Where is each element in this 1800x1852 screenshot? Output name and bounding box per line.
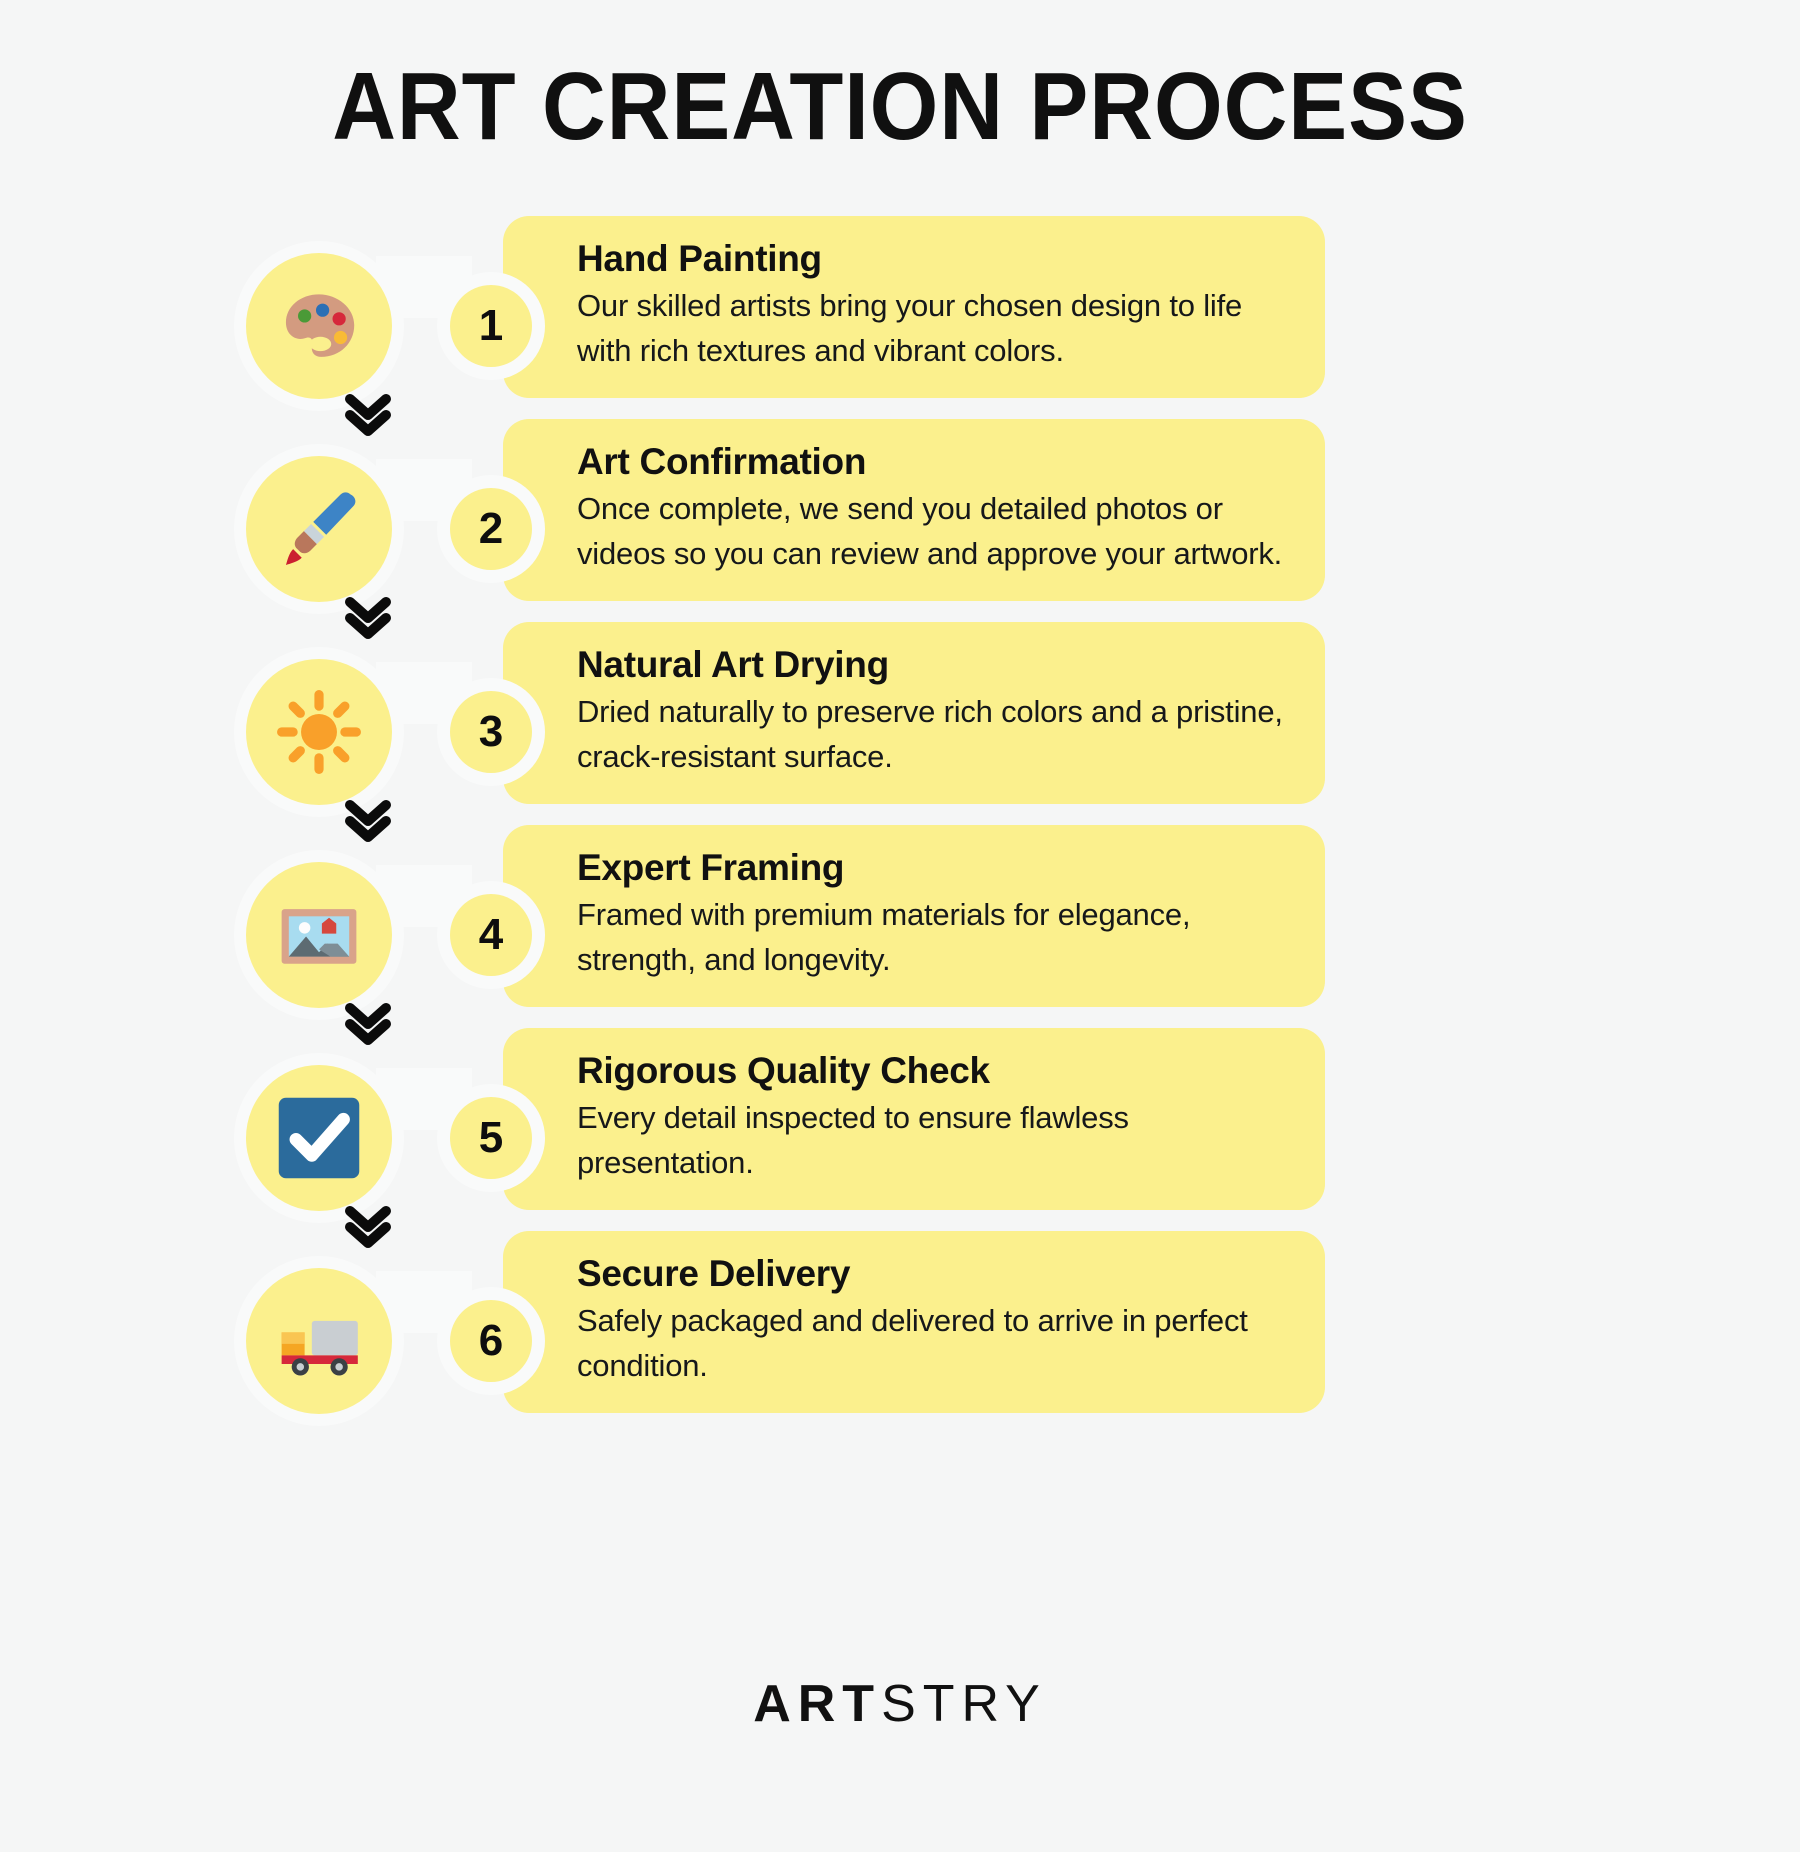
step-title: Secure Delivery — [577, 1253, 1291, 1294]
double-chevron-down-icon — [344, 1205, 392, 1251]
step-description: Framed with premium materials for elegan… — [577, 893, 1291, 983]
brand-logo-bold: ART — [753, 1675, 881, 1733]
step-card: Natural Art Drying Dried naturally to pr… — [503, 622, 1325, 804]
step-icon-circle — [246, 253, 392, 399]
step-icon-circle — [246, 659, 392, 805]
step-title: Natural Art Drying — [577, 644, 1291, 685]
step-title: Rigorous Quality Check — [577, 1050, 1291, 1091]
step-icon-circle — [246, 456, 392, 602]
double-chevron-down-icon — [344, 1002, 392, 1048]
paintbrush-icon — [246, 456, 392, 602]
step-title: Expert Framing — [577, 847, 1291, 888]
page-title: ART CREATION PROCESS — [72, 52, 1728, 162]
process-step: Natural Art Drying Dried naturally to pr… — [0, 614, 1800, 817]
delivery-truck-icon — [246, 1268, 392, 1414]
step-description: Dried naturally to preserve rich colors … — [577, 690, 1291, 780]
step-icon-circle — [246, 862, 392, 1008]
brand-logo-light: STRY — [881, 1675, 1047, 1733]
double-chevron-down-icon — [344, 393, 392, 439]
check-mark-icon — [246, 1065, 392, 1211]
step-icon-circle — [246, 1268, 392, 1414]
step-number-badge: 5 — [450, 1097, 532, 1179]
step-number-badge: 1 — [450, 285, 532, 367]
process-step: Secure Delivery Safely packaged and deli… — [0, 1223, 1800, 1426]
process-step-list: Hand Painting Our skilled artists bring … — [0, 208, 1800, 1426]
step-card: Art Confirmation Once complete, we send … — [503, 419, 1325, 601]
step-title: Hand Painting — [577, 238, 1291, 279]
step-number-badge: 6 — [450, 1300, 532, 1382]
process-step: Art Confirmation Once complete, we send … — [0, 411, 1800, 614]
step-number-badge: 2 — [450, 488, 532, 570]
process-step: Rigorous Quality Check Every detail insp… — [0, 1020, 1800, 1223]
process-step: Expert Framing Framed with premium mater… — [0, 817, 1800, 1020]
step-card: Secure Delivery Safely packaged and deli… — [503, 1231, 1325, 1413]
step-description: Every detail inspected to ensure flawles… — [577, 1096, 1291, 1186]
step-icon-circle — [246, 1065, 392, 1211]
double-chevron-down-icon — [344, 799, 392, 845]
step-card: Rigorous Quality Check Every detail insp… — [503, 1028, 1325, 1210]
step-card: Expert Framing Framed with premium mater… — [503, 825, 1325, 1007]
process-step: Hand Painting Our skilled artists bring … — [0, 208, 1800, 411]
step-number-badge: 4 — [450, 894, 532, 976]
step-description: Safely packaged and delivered to arrive … — [577, 1299, 1291, 1389]
step-description: Our skilled artists bring your chosen de… — [577, 284, 1291, 374]
step-card: Hand Painting Our skilled artists bring … — [503, 216, 1325, 398]
framed-picture-icon — [246, 862, 392, 1008]
step-description: Once complete, we send you detailed phot… — [577, 487, 1291, 577]
palette-icon — [246, 253, 392, 399]
brand-logo: ARTSTRY — [0, 1674, 1800, 1734]
double-chevron-down-icon — [344, 596, 392, 642]
step-number-badge: 3 — [450, 691, 532, 773]
sun-icon — [246, 659, 392, 805]
step-title: Art Confirmation — [577, 441, 1291, 482]
